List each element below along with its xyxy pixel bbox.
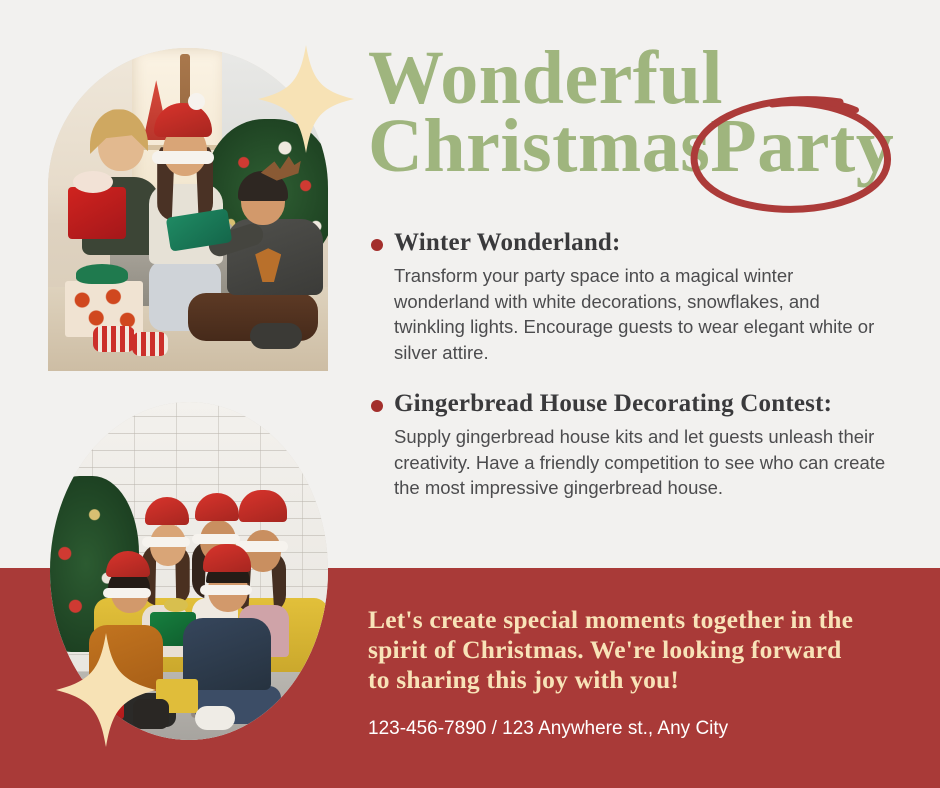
footer-block: Let's create special moments together in… xyxy=(368,605,888,741)
poster-canvas: WonderfulChristmasParty Winter Wonderlan… xyxy=(0,0,940,788)
bullet-heading: Gingerbread House Decorating Contest: xyxy=(394,389,898,419)
title-line-2: ChristmasParty xyxy=(368,112,904,180)
bullet-dot-icon xyxy=(371,239,383,251)
page-title: WonderfulChristmasParty xyxy=(368,44,904,180)
santa-hat-brim xyxy=(142,537,190,547)
santa-hat-brim xyxy=(152,151,214,164)
bullet-item-winter-wonderland: Winter Wonderland: Transform your party … xyxy=(368,228,898,365)
gift-bow xyxy=(164,598,188,612)
red-gift-bow xyxy=(73,171,113,193)
sparkle-icon xyxy=(258,45,354,153)
title-line-2-circled: Party xyxy=(710,104,894,188)
bullet-list: Winter Wonderland: Transform your party … xyxy=(368,228,898,525)
bullet-body-text: Supply gingerbread house kits and let gu… xyxy=(394,424,894,501)
slipper xyxy=(250,323,302,349)
content-column: WonderfulChristmasParty Winter Wonderlan… xyxy=(366,0,906,788)
santa-hat-brim xyxy=(192,534,240,544)
bullet-heading: Winter Wonderland: xyxy=(394,228,898,258)
green-gift-bow xyxy=(76,264,128,284)
christmas-sock-left xyxy=(93,326,135,352)
bullet-body-text: Transform your party space into a magica… xyxy=(394,263,894,365)
bullet-dot-icon xyxy=(371,400,383,412)
title-line-1: Wonderful xyxy=(368,44,904,112)
poster-title-block: WonderfulChristmasParty xyxy=(368,44,904,204)
footer-tagline: Let's create special moments together in… xyxy=(368,605,868,695)
santa-hat-brim xyxy=(200,585,252,595)
christmas-sock-right xyxy=(132,332,168,356)
sparkle-icon xyxy=(56,633,156,747)
santa-hat-brim xyxy=(103,588,151,598)
title-line-2-plain: Christmas xyxy=(368,104,710,188)
red-gift-box xyxy=(68,187,126,239)
bullet-item-gingerbread-contest: Gingerbread House Decorating Contest: Su… xyxy=(368,389,898,501)
footer-contact-info: 123-456-7890 / 123 Anywhere st., Any Cit… xyxy=(368,717,888,741)
white-shoe xyxy=(195,706,235,730)
